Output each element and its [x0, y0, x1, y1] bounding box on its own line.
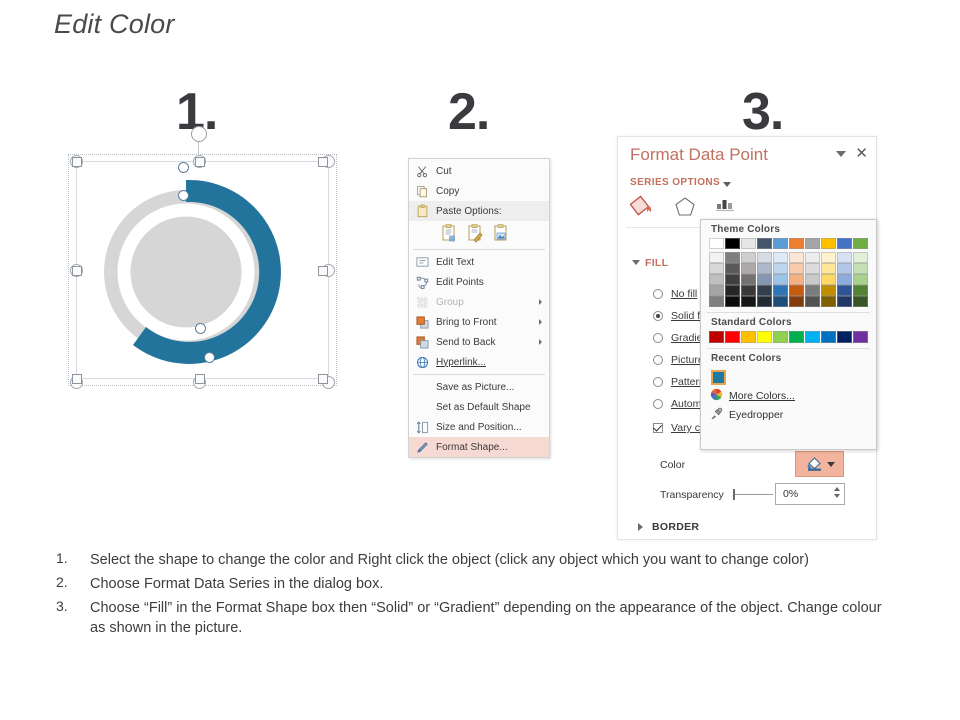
fill-option-solid-fill[interactable]: Solid fi — [671, 310, 703, 322]
theme-color-swatch-r3-c5[interactable] — [789, 274, 804, 285]
edit-text-icon — [415, 255, 429, 269]
theme-color-swatch-r3-c8[interactable] — [837, 274, 852, 285]
instruction-text: Choose Format Data Series in the dialog … — [90, 574, 383, 594]
spinner-down-icon[interactable] — [834, 494, 840, 498]
inner-handle-mid-left[interactable] — [72, 266, 82, 276]
standard-color-swatch-3[interactable] — [757, 331, 772, 343]
clipboard-icon — [415, 204, 429, 218]
theme-color-swatch-r4-c0[interactable] — [709, 285, 724, 296]
theme-color-swatch-r1-c6[interactable] — [805, 252, 820, 263]
context-menu-item-send-to-back[interactable]: Send to Back — [409, 332, 549, 352]
context-menu-item-format-shape[interactable]: Format Shape... — [409, 437, 549, 457]
theme-colors-row[interactable] — [701, 238, 876, 249]
submenu-arrow-icon — [539, 299, 542, 305]
radio-icon[interactable] — [653, 377, 663, 387]
fill-section-header[interactable]: FILL — [645, 257, 668, 269]
theme-colors-header: Theme Colors — [701, 220, 876, 238]
theme-color-swatch-r2-c2[interactable] — [741, 263, 756, 274]
fill-option-picture-fill[interactable]: Picture — [671, 354, 704, 366]
theme-color-swatch-r1-c8[interactable] — [837, 252, 852, 263]
theme-color-swatch-r3-c7[interactable] — [821, 274, 836, 285]
theme-color-swatch-r0-c7[interactable] — [821, 238, 836, 249]
context-menu-item-edit-text[interactable]: Edit Text — [409, 252, 549, 272]
slide-canvas: Edit Color 1. 2. 3. — [0, 0, 960, 720]
context-menu-separator — [413, 249, 545, 250]
theme-color-swatch-r0-c1[interactable] — [725, 238, 740, 249]
context-menu-label: Group — [436, 297, 464, 308]
theme-color-swatch-r5-c5[interactable] — [789, 296, 804, 307]
paste-picture-icon[interactable] — [493, 224, 510, 243]
submenu-arrow-icon — [539, 339, 542, 345]
inner-handle-bottom-center[interactable] — [195, 374, 205, 384]
inner-handle-top-right[interactable] — [318, 157, 328, 167]
theme-colors-row[interactable] — [701, 252, 876, 263]
paint-bucket-icon — [805, 455, 825, 473]
radio-icon[interactable] — [653, 333, 663, 343]
arc-handle-top[interactable] — [178, 162, 189, 173]
theme-color-swatch-r4-c7[interactable] — [821, 285, 836, 296]
theme-color-swatch-r5-c3[interactable] — [757, 296, 772, 307]
step-number-2: 2. — [448, 86, 489, 138]
fill-option-label: Gradie — [671, 332, 703, 344]
theme-color-swatch-r4-c3[interactable] — [757, 285, 772, 296]
rotation-handle-icon[interactable] — [191, 126, 207, 142]
theme-color-swatch-r3-c0[interactable] — [709, 274, 724, 285]
instructions-list: 1. Select the shape to change the color … — [56, 550, 896, 642]
radio-icon[interactable] — [653, 399, 663, 409]
chevron-down-icon[interactable] — [836, 151, 846, 157]
context-menu-label: Set as Default Shape — [436, 402, 531, 413]
group-icon — [415, 295, 429, 309]
standard-color-swatch-6[interactable] — [805, 331, 820, 343]
theme-color-swatch-r2-c7[interactable] — [821, 263, 836, 274]
theme-color-swatch-r3-c2[interactable] — [741, 274, 756, 285]
standard-color-swatch-0[interactable] — [709, 331, 724, 343]
context-menu-item-set-default-shape[interactable]: Set as Default Shape — [409, 397, 549, 417]
instruction-number: 1. — [56, 550, 90, 570]
transparency-value: 0% — [783, 488, 798, 500]
radio-icon-selected[interactable] — [653, 311, 663, 321]
theme-color-swatch-r5-c6[interactable] — [805, 296, 820, 307]
instruction-item: 3. Choose “Fill” in the Format Shape box… — [56, 598, 896, 638]
checkbox-icon-checked[interactable] — [653, 423, 663, 433]
context-menu-label: Edit Text — [436, 257, 474, 268]
color-dropdown-arrow-icon[interactable] — [827, 462, 835, 467]
theme-color-swatch-r1-c2[interactable] — [741, 252, 756, 263]
recent-color-swatch[interactable] — [711, 370, 726, 385]
paste-options-row[interactable] — [409, 221, 549, 247]
context-menu-item-group: Group — [409, 292, 549, 312]
fill-option-no-fill[interactable]: No fill — [671, 288, 697, 300]
instruction-item: 2. Choose Format Data Series in the dial… — [56, 574, 896, 594]
radio-icon[interactable] — [653, 355, 663, 365]
theme-color-swatch-r0-c8[interactable] — [837, 238, 852, 249]
standard-color-swatch-7[interactable] — [821, 331, 836, 343]
pane-title: Format Data Point — [630, 145, 768, 165]
fill-section-toggle-icon[interactable] — [632, 260, 640, 265]
theme-color-swatch-r4-c5[interactable] — [789, 285, 804, 296]
theme-color-swatch-r0-c5[interactable] — [789, 238, 804, 249]
context-menu-label: Cut — [436, 166, 452, 177]
context-menu-label: Format Shape... — [436, 442, 508, 453]
paste-merge-icon[interactable] — [467, 224, 484, 243]
theme-color-swatch-r1-c1[interactable] — [725, 252, 740, 263]
theme-colors-row[interactable] — [701, 296, 876, 307]
border-section-header[interactable]: BORDER — [652, 521, 699, 533]
paste-keep-formatting-icon[interactable] — [441, 224, 458, 243]
fill-option-gradient-fill[interactable]: Gradie — [671, 332, 703, 344]
instruction-number: 3. — [56, 598, 90, 638]
theme-color-swatch-r4-c4[interactable] — [773, 285, 788, 296]
context-menu-label: Bring to Front — [436, 317, 497, 328]
scissors-icon — [415, 164, 429, 178]
color-picker-button[interactable] — [795, 451, 844, 477]
theme-color-swatch-r5-c1[interactable] — [725, 296, 740, 307]
edit-points-icon — [415, 275, 429, 289]
instruction-text: Choose “Fill” in the Format Shape box th… — [90, 598, 896, 638]
theme-color-swatch-r0-c3[interactable] — [757, 238, 772, 249]
theme-color-swatch-r3-c3[interactable] — [757, 274, 772, 285]
arc-handle-bottom-inner[interactable] — [195, 323, 206, 334]
arc-handle-top-inner[interactable] — [178, 190, 189, 201]
fill-option-automatic[interactable]: Autom — [671, 398, 701, 410]
context-menu-item-hyperlink[interactable]: Hyperlink... — [409, 352, 549, 372]
eyedropper-action[interactable]: Eyedropper — [701, 404, 876, 423]
theme-color-swatch-r5-c9[interactable] — [853, 296, 868, 307]
context-menu-label: Copy — [436, 186, 459, 197]
color-picker-dropdown[interactable]: Theme Colors Standard Colors Recent Colo… — [700, 219, 877, 450]
theme-color-swatch-r2-c1[interactable] — [725, 263, 740, 274]
page-title: Edit Color — [54, 9, 175, 40]
instruction-item: 1. Select the shape to change the color … — [56, 550, 896, 570]
theme-colors-row[interactable] — [701, 274, 876, 285]
theme-color-swatch-r4-c6[interactable] — [805, 285, 820, 296]
series-options-label[interactable]: SERIES OPTIONS — [630, 177, 720, 188]
standard-colors-header: Standard Colors — [701, 313, 876, 331]
size-position-icon — [415, 420, 429, 434]
theme-color-swatch-r0-c2[interactable] — [741, 238, 756, 249]
standard-color-swatch-2[interactable] — [741, 331, 756, 343]
standard-color-swatch-8[interactable] — [837, 331, 852, 343]
theme-color-swatch-r5-c2[interactable] — [741, 296, 756, 307]
fill-bucket-icon[interactable] — [630, 195, 656, 224]
instruction-number: 2. — [56, 574, 90, 594]
doughnut-svg — [86, 166, 318, 378]
fill-option-label: No fill — [671, 288, 697, 300]
context-menu[interactable]: Cut Copy Paste Options: — [408, 158, 550, 458]
theme-color-swatch-r3-c9[interactable] — [853, 274, 868, 285]
context-menu-label: Paste Options: — [436, 206, 502, 217]
inner-handle-bottom-right[interactable] — [318, 374, 328, 384]
step-number-3: 3. — [742, 86, 783, 138]
theme-color-swatch-r2-c4[interactable] — [773, 263, 788, 274]
theme-colors-row[interactable] — [701, 263, 876, 274]
radio-icon[interactable] — [653, 289, 663, 299]
theme-color-swatch-r5-c7[interactable] — [821, 296, 836, 307]
doughnut-chart[interactable] — [86, 166, 318, 378]
theme-color-swatch-r4-c8[interactable] — [837, 285, 852, 296]
transparency-slider-knob[interactable] — [733, 489, 735, 500]
theme-color-swatch-r1-c3[interactable] — [757, 252, 772, 263]
theme-color-swatch-r5-c0[interactable] — [709, 296, 724, 307]
inner-handle-bottom-left[interactable] — [72, 374, 82, 384]
spinner-arrows[interactable] — [834, 487, 840, 498]
theme-color-swatch-r0-c0[interactable] — [709, 238, 724, 249]
theme-color-swatch-r2-c9[interactable] — [853, 263, 868, 274]
theme-color-swatch-r1-c9[interactable] — [853, 252, 868, 263]
context-menu-item-bring-to-front[interactable]: Bring to Front — [409, 312, 549, 332]
send-back-icon — [415, 335, 429, 349]
standard-color-swatch-9[interactable] — [853, 331, 868, 343]
hyperlink-icon — [415, 355, 429, 369]
standard-color-swatch-4[interactable] — [773, 331, 788, 343]
theme-color-swatch-r2-c6[interactable] — [805, 263, 820, 274]
context-menu-item-paste-options[interactable]: Paste Options: — [409, 201, 549, 221]
copy-icon — [415, 184, 429, 198]
eyedropper-label: Eyedropper — [729, 409, 783, 421]
theme-color-swatch-r2-c5[interactable] — [789, 263, 804, 274]
panel-selected-shape — [60, 146, 345, 394]
instruction-text: Select the shape to change the color and… — [90, 550, 809, 570]
context-menu-label: Save as Picture... — [436, 382, 514, 393]
transparency-value-input[interactable]: 0% — [775, 483, 845, 505]
context-menu-separator — [413, 374, 545, 375]
submenu-arrow-icon — [539, 319, 542, 325]
theme-color-swatch-r5-c4[interactable] — [773, 296, 788, 307]
context-menu-label: Edit Points — [436, 277, 484, 288]
theme-color-swatch-r2-c0[interactable] — [709, 263, 724, 274]
theme-color-swatch-r1-c5[interactable] — [789, 252, 804, 263]
context-menu-item-size-and-position[interactable]: Size and Position... — [409, 417, 549, 437]
theme-color-swatch-r1-c4[interactable] — [773, 252, 788, 263]
theme-colors-row[interactable] — [701, 285, 876, 296]
theme-color-swatch-r1-c0[interactable] — [709, 252, 724, 263]
context-menu-item-cut[interactable]: Cut — [409, 161, 549, 181]
eyedropper-icon — [710, 407, 723, 423]
fill-option-label: Autom — [671, 398, 701, 410]
recent-colors-header: Recent Colors — [701, 349, 876, 367]
theme-color-swatch-r4-c9[interactable] — [853, 285, 868, 296]
arc-handle-bottom[interactable] — [204, 352, 215, 363]
inner-handle-mid-right[interactable] — [318, 266, 328, 276]
context-menu-label: Hyperlink... — [436, 357, 486, 368]
inner-handle-top-left[interactable] — [72, 157, 82, 167]
context-menu-item-edit-points[interactable]: Edit Points — [409, 272, 549, 292]
fill-option-label: Picture — [671, 354, 704, 366]
border-section-toggle-icon[interactable] — [638, 523, 643, 531]
color-row-label: Color — [660, 459, 685, 471]
color-wheel-icon — [710, 388, 723, 404]
inner-handle-top-center[interactable] — [195, 157, 205, 167]
theme-color-swatch-r1-c7[interactable] — [821, 252, 836, 263]
theme-color-swatch-r4-c2[interactable] — [741, 285, 756, 296]
spinner-up-icon[interactable] — [834, 487, 840, 491]
more-colors-action[interactable]: More Colors... — [701, 385, 876, 404]
standard-color-swatch-1[interactable] — [725, 331, 740, 343]
series-options-chevron-icon[interactable] — [723, 182, 731, 187]
theme-color-swatch-r0-c9[interactable] — [853, 238, 868, 249]
standard-color-swatch-5[interactable] — [789, 331, 804, 343]
inner-disc — [131, 217, 241, 327]
theme-color-swatch-r4-c1[interactable] — [725, 285, 740, 296]
theme-color-swatch-r3-c1[interactable] — [725, 274, 740, 285]
more-colors-label: More Colors... — [729, 390, 795, 402]
theme-color-swatch-r2-c8[interactable] — [837, 263, 852, 274]
format-shape-icon — [415, 440, 429, 454]
theme-color-swatch-r2-c3[interactable] — [757, 263, 772, 274]
theme-color-swatch-r0-c4[interactable] — [773, 238, 788, 249]
theme-color-swatch-r5-c8[interactable] — [837, 296, 852, 307]
theme-color-swatch-r3-c4[interactable] — [773, 274, 788, 285]
context-menu-item-save-as-picture[interactable]: Save as Picture... — [409, 377, 549, 397]
effects-pentagon-icon[interactable] — [674, 195, 696, 224]
theme-color-swatch-r3-c6[interactable] — [805, 274, 820, 285]
bring-front-icon — [415, 315, 429, 329]
context-menu-label: Send to Back — [436, 337, 495, 348]
transparency-row-label: Transparency — [660, 489, 724, 501]
context-menu-label: Size and Position... — [436, 422, 522, 433]
context-menu-item-copy[interactable]: Copy — [409, 181, 549, 201]
close-icon[interactable]: ✕ — [855, 146, 868, 161]
transparency-slider-track[interactable] — [735, 494, 773, 495]
standard-colors-row[interactable] — [701, 331, 876, 343]
theme-color-swatch-r0-c6[interactable] — [805, 238, 820, 249]
fill-option-label: Solid fi — [671, 310, 703, 322]
